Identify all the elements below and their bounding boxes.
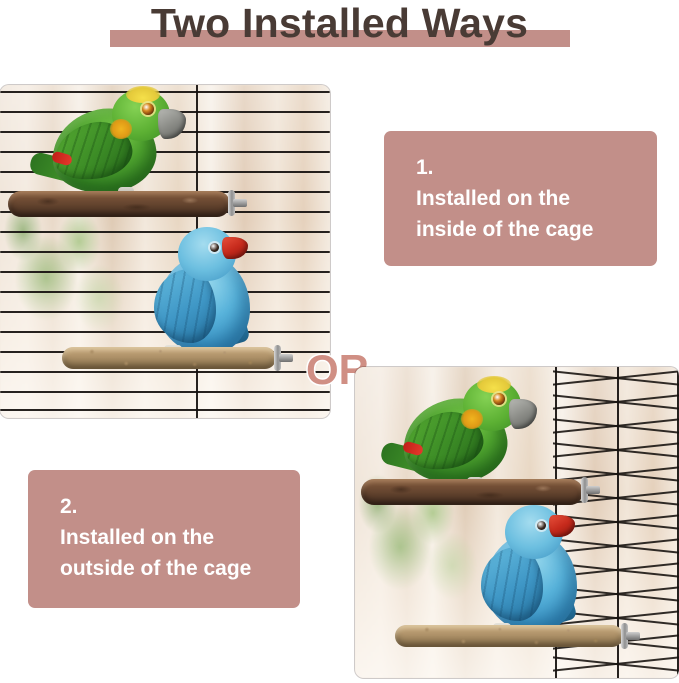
- callout-number: 1.: [416, 153, 657, 183]
- screw-bolt: [586, 486, 600, 494]
- title-block: Two Installed Ways: [0, 0, 679, 60]
- perch-mounting-screw-2: [621, 623, 645, 649]
- callout-box-outside-mount: 2. Installed on the outside of the cage: [28, 470, 300, 608]
- blue-ringneck-parakeet: [477, 503, 597, 633]
- parrot-beak: [509, 399, 537, 429]
- callout-line-2: outside of the cage: [60, 553, 300, 584]
- dark-wood-perch: [361, 479, 583, 505]
- parakeet-eye: [210, 243, 219, 252]
- callout-line-1: Installed on the: [60, 522, 300, 553]
- parrot-eye: [493, 393, 505, 405]
- perch-mounting-screw-2: [274, 345, 298, 371]
- screw-bolt: [279, 354, 293, 362]
- dark-wood-perch: [8, 191, 230, 217]
- callout-line-1: Installed on the: [416, 183, 657, 214]
- parrot-yellow-crown: [477, 376, 511, 393]
- parrot-orange-cheek: [110, 119, 132, 139]
- parakeet-beak: [222, 237, 248, 259]
- blue-ringneck-parakeet: [150, 225, 270, 355]
- parrot-eye: [142, 103, 154, 115]
- outside-mount-photo: [355, 367, 679, 678]
- perch-mounting-screw: [228, 190, 252, 216]
- parrot-yellow-crown: [126, 86, 160, 103]
- parakeet-eye: [537, 521, 546, 530]
- screw-bolt: [233, 199, 247, 207]
- inside-mount-photo: [0, 85, 330, 418]
- parakeet-beak: [549, 515, 575, 537]
- callout-box-inside-mount: 1. Installed on the inside of the cage: [384, 131, 657, 266]
- parrot-beak: [158, 109, 186, 139]
- callout-line-2: inside of the cage: [416, 214, 657, 245]
- page-title: Two Installed Ways: [0, 0, 679, 47]
- callout-number: 2.: [60, 492, 300, 522]
- light-bark-perch: [62, 347, 276, 369]
- screw-bolt: [626, 632, 640, 640]
- light-bark-perch: [395, 625, 623, 647]
- perch-mounting-screw: [581, 477, 605, 503]
- parrot-orange-cheek: [461, 409, 483, 429]
